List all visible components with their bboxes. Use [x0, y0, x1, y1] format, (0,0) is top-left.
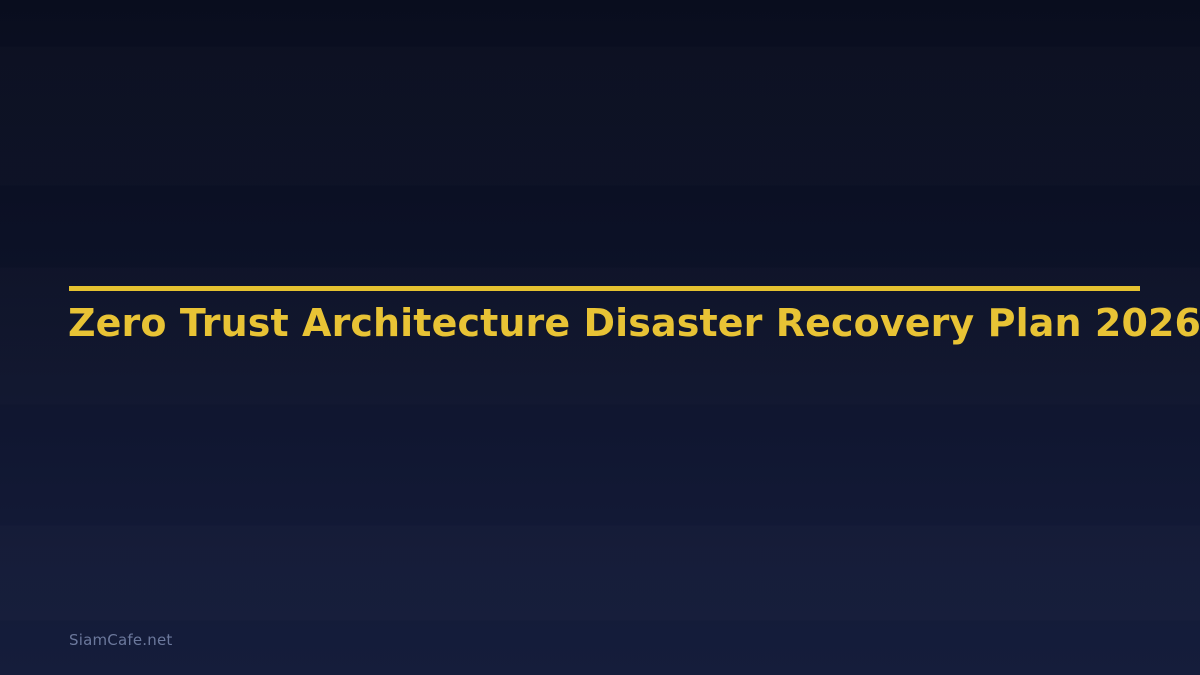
- footer-watermark: SiamCafe.net: [69, 630, 172, 650]
- slide-content: Zero Trust Architecture Disaster Recover…: [0, 0, 1200, 675]
- title-slide: Zero Trust Architecture Disaster Recover…: [0, 0, 1200, 675]
- accent-rule-divider: [69, 286, 1140, 291]
- page-title: Zero Trust Architecture Disaster Recover…: [68, 300, 1148, 346]
